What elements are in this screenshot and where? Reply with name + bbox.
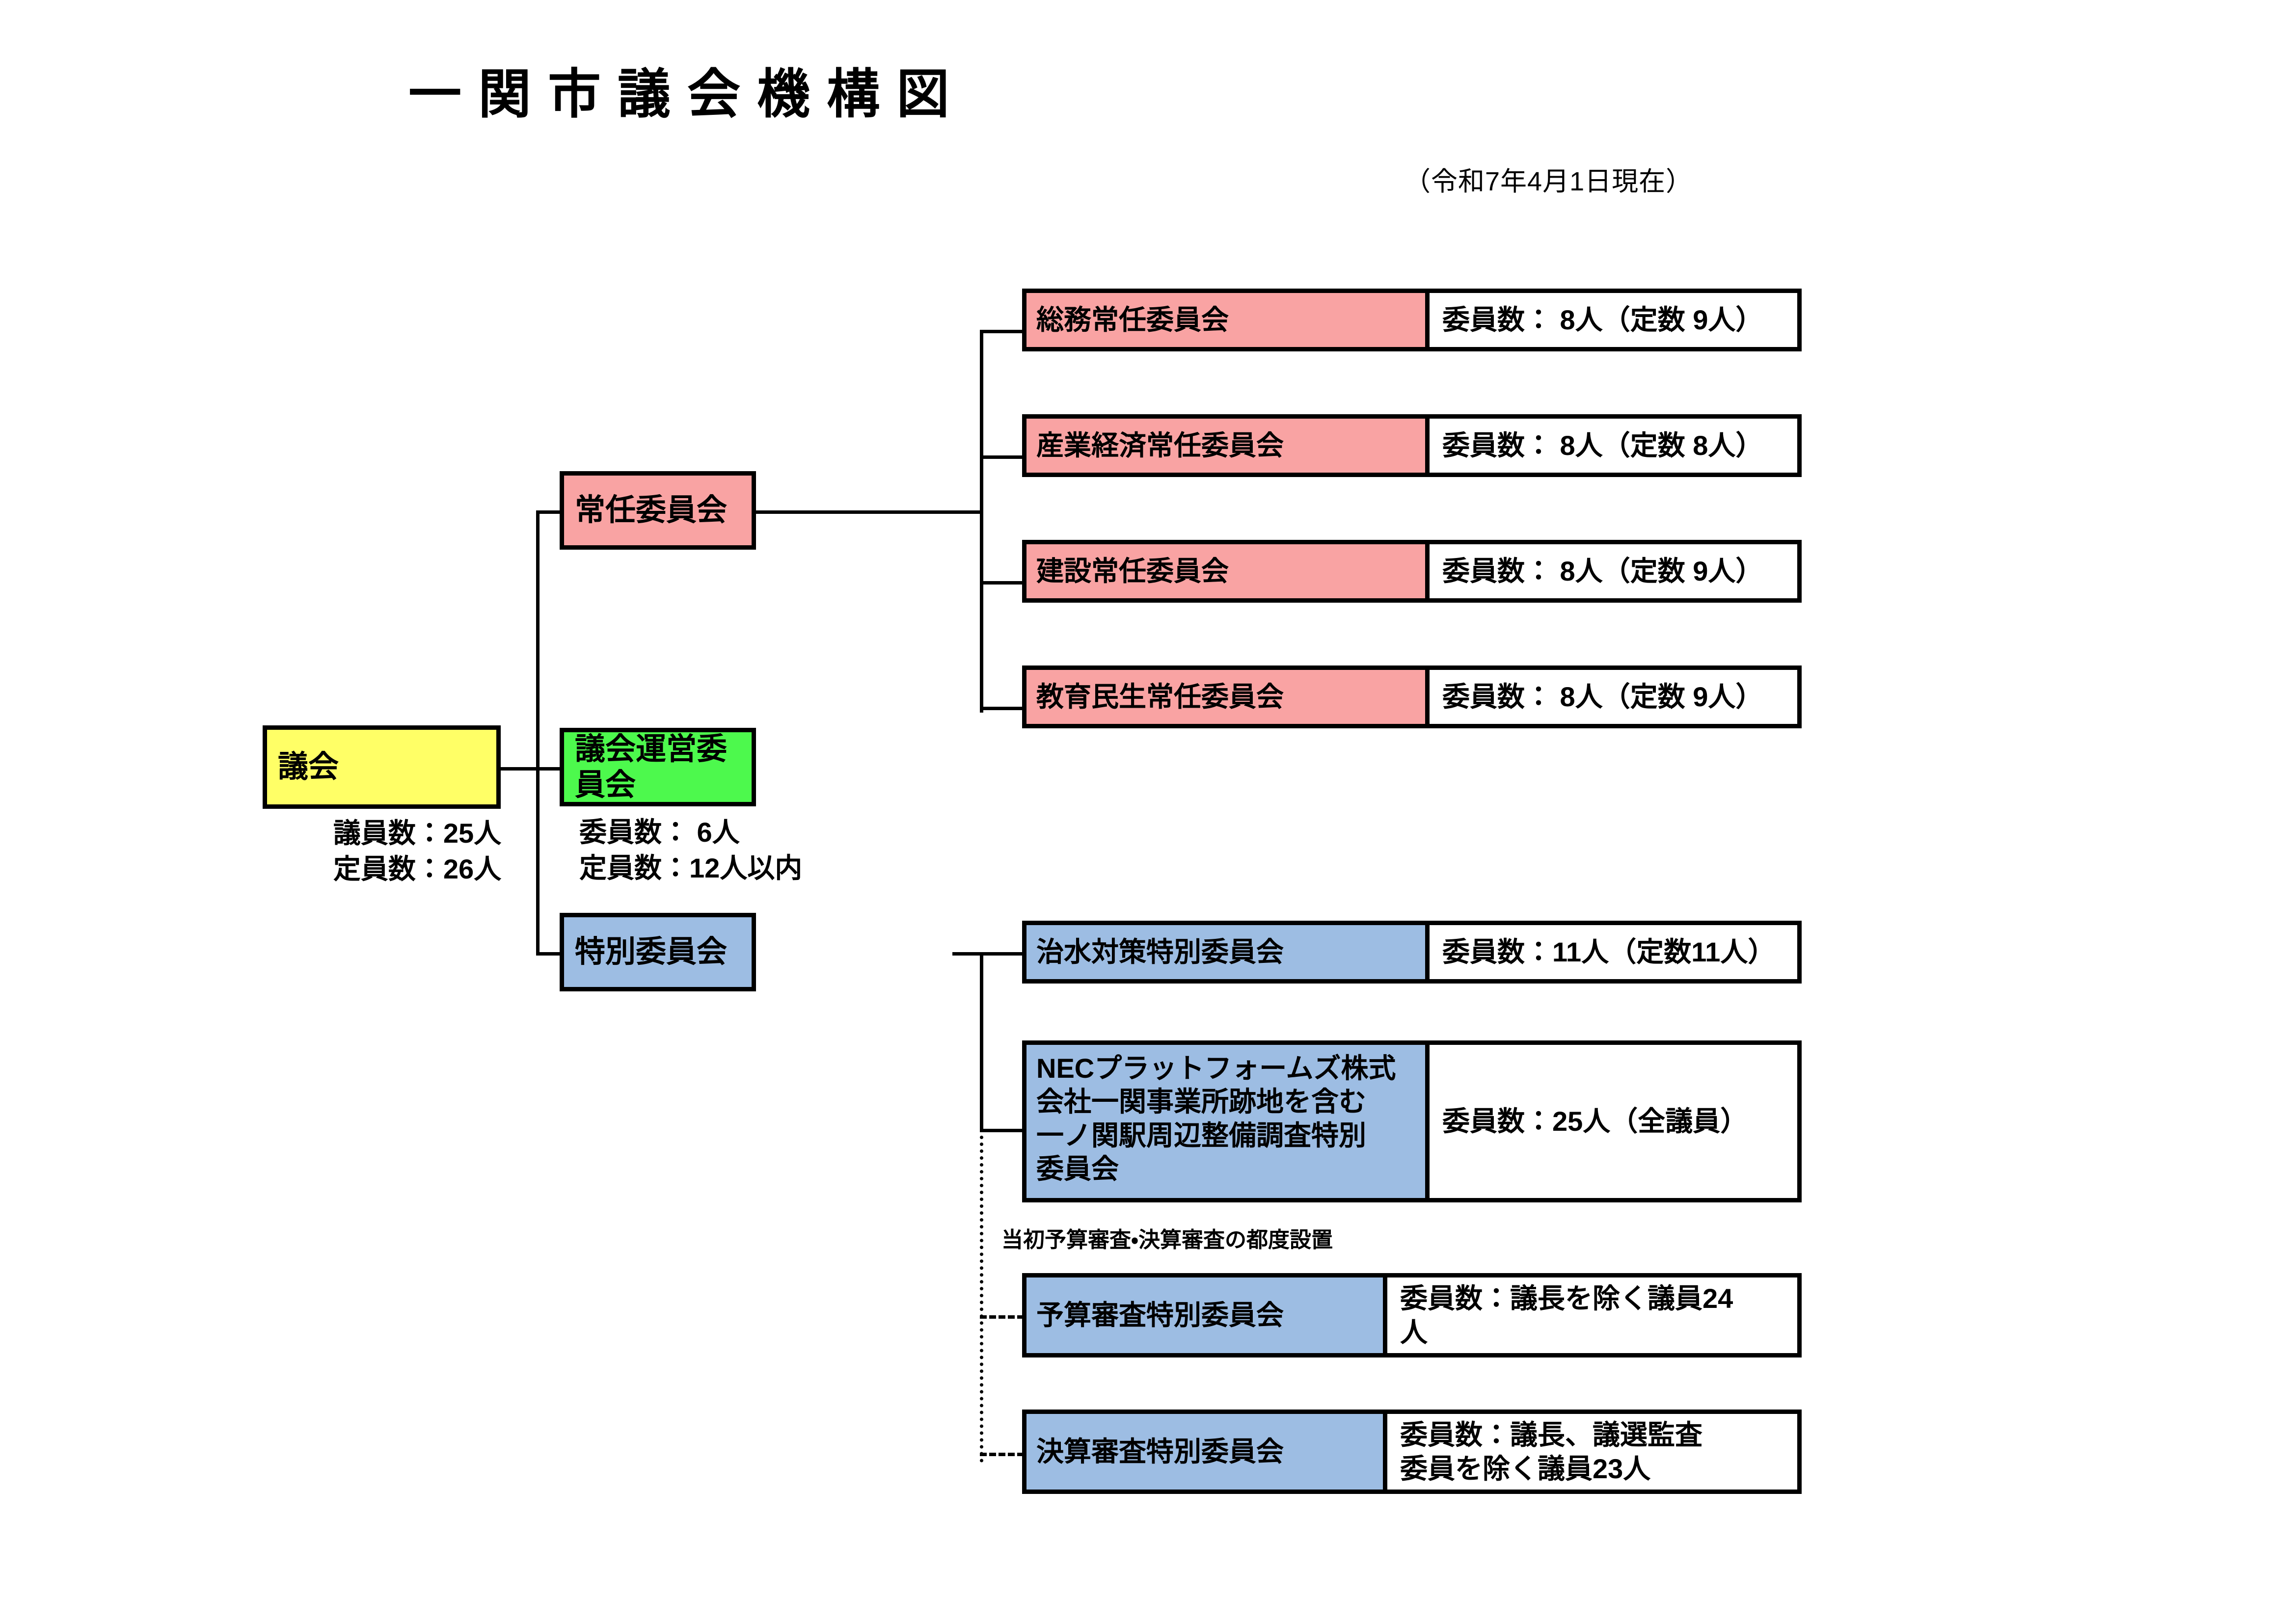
- connector-special-2: [980, 1129, 1024, 1132]
- connector-adhoc-1: [980, 1315, 1024, 1319]
- connector-special-trunk: [980, 952, 983, 1129]
- table-row[interactable]: 教育民生常任委員会 委員数： 8人（定数 9人）: [1022, 665, 1802, 728]
- connector-standing-2: [980, 455, 1022, 459]
- adhoc-committee-count: 委員数：議長、議選監査 委員を除く議員23人: [1387, 1414, 1797, 1490]
- steering-member-counts: 委員数： 6人 定員数：12人以内: [579, 815, 854, 886]
- table-row[interactable]: 産業経済常任委員会 委員数： 8人（定数 8人）: [1022, 414, 1802, 477]
- node-steering-committee-label: 議会運営委員会: [564, 731, 752, 803]
- node-special-committees[interactable]: 特別委員会: [560, 913, 756, 991]
- connector-adhoc-2: [980, 1453, 1024, 1456]
- connector-to-steering: [536, 767, 562, 771]
- table-row[interactable]: 治水対策特別委員会 委員数：11人（定数11人）: [1022, 921, 1802, 984]
- standing-committee-name: 建設常任委員会: [1026, 544, 1430, 598]
- special-committee-name: NECプラットフォームズ株式 会社一関事業所跡地を含む 一ノ関駅周辺整備調査特別…: [1026, 1045, 1430, 1198]
- organization-chart-canvas: 一関市議会機構図 （令和7年4月1日現在） 議会 議員数：25人 定員数：26人…: [0, 0, 2296, 1623]
- node-standing-committees-label: 常任委員会: [564, 492, 732, 528]
- node-standing-committees[interactable]: 常任委員会: [560, 471, 756, 550]
- standing-committee-name: 教育民生常任委員会: [1026, 670, 1430, 724]
- table-row[interactable]: NECプラットフォームズ株式 会社一関事業所跡地を含む 一ノ関駅周辺整備調査特別…: [1022, 1040, 1802, 1202]
- special-committee-name: 治水対策特別委員会: [1026, 925, 1430, 979]
- connector-special-stub: [952, 952, 981, 956]
- special-committee-count: 委員数：11人（定数11人）: [1430, 925, 1797, 979]
- connector-root-stub: [501, 767, 536, 771]
- connector-standing-trunk: [980, 330, 983, 713]
- adhoc-committee-name: 予算審査特別委員会: [1026, 1277, 1387, 1353]
- table-row[interactable]: 予算審査特別委員会 委員数：議長を除く議員24 人: [1022, 1273, 1802, 1357]
- standing-committee-name: 総務常任委員会: [1026, 293, 1430, 347]
- special-committee-count: 委員数：25人（全議員）: [1430, 1045, 1797, 1198]
- node-special-committees-label: 特別委員会: [564, 934, 732, 970]
- connector-adhoc-trunk: [980, 1129, 983, 1463]
- assembly-member-counts: 議員数：25人 定員数：26人: [290, 816, 545, 887]
- connector-standing-4: [980, 707, 1022, 710]
- connector-standing-3: [980, 581, 1022, 585]
- table-row[interactable]: 建設常任委員会 委員数： 8人（定数 9人）: [1022, 540, 1802, 603]
- adhoc-setup-note: 当初予算審査・決算審査の都度設置: [1001, 1222, 1333, 1253]
- adhoc-committee-count: 委員数：議長を除く議員24 人: [1387, 1277, 1797, 1353]
- as-of-date: （令和7年4月1日現在）: [1404, 160, 1693, 198]
- standing-committee-count: 委員数： 8人（定数 9人）: [1430, 544, 1797, 598]
- table-row[interactable]: 決算審査特別委員会 委員数：議長、議選監査 委員を除く議員23人: [1022, 1410, 1802, 1494]
- connector-standing-1: [980, 330, 1022, 333]
- connector-standing-stub: [756, 510, 784, 514]
- standing-committee-name: 産業経済常任委員会: [1026, 419, 1430, 473]
- page-title: 一関市議会機構図: [0, 64, 1375, 125]
- table-row[interactable]: 総務常任委員会 委員数： 8人（定数 9人）: [1022, 289, 1802, 351]
- adhoc-committee-name: 決算審査特別委員会: [1026, 1414, 1387, 1490]
- node-steering-committee[interactable]: 議会運営委員会: [560, 728, 756, 806]
- standing-committee-count: 委員数： 8人（定数 9人）: [1430, 670, 1797, 724]
- node-assembly-label: 議会: [267, 749, 344, 785]
- connector-to-special: [536, 952, 562, 956]
- connector-to-standing: [536, 510, 562, 514]
- connector-special-1: [980, 952, 1024, 956]
- standing-committee-count: 委員数： 8人（定数 9人）: [1430, 293, 1797, 347]
- connector-standing-spine: [784, 510, 980, 514]
- node-assembly[interactable]: 議会: [263, 725, 501, 809]
- standing-committee-count: 委員数： 8人（定数 8人）: [1430, 419, 1797, 473]
